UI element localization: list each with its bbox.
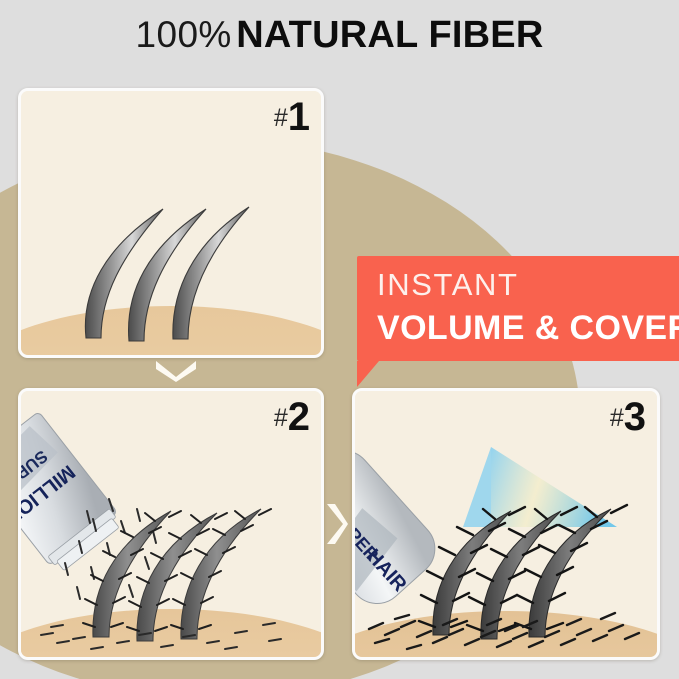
callout-word-coverage: COVERAGE [570, 309, 679, 347]
step-index: 1 [288, 95, 310, 139]
callout-banner: INSTANT VOLUME & COVERAGE [357, 256, 679, 361]
title-prefix: 100% [136, 14, 232, 55]
step-panel-2: SUPER MILLION [18, 388, 324, 660]
callout-word-volume: VOLUME [377, 309, 525, 347]
callout-ampersand: & [535, 309, 560, 347]
infographic-canvas: 100% NATURAL FIBER [0, 0, 679, 679]
step-panel-1: #1 [18, 88, 324, 358]
callout-line-2: VOLUME & COVERAGE [377, 311, 679, 345]
callout-tail [357, 361, 379, 387]
callout-line-1: INSTANT [377, 269, 679, 300]
step-number-1: #1 [274, 97, 310, 137]
hash-symbol: # [610, 404, 624, 432]
hash-symbol: # [274, 104, 288, 132]
title-emphasis: NATURAL FIBER [236, 14, 543, 56]
hash-symbol: # [274, 404, 288, 432]
chevron-down-icon [152, 358, 200, 382]
step-number-3: #3 [610, 397, 646, 437]
step-number-2: #2 [274, 397, 310, 437]
callout-text: INSTANT VOLUME & COVERAGE [377, 269, 679, 345]
step-index: 3 [624, 395, 646, 439]
step-panel-3: SUPER HAIR [352, 388, 660, 660]
step-index: 2 [288, 395, 310, 439]
page-title: 100% NATURAL FIBER [0, 16, 679, 54]
chevron-right-icon [324, 500, 348, 548]
